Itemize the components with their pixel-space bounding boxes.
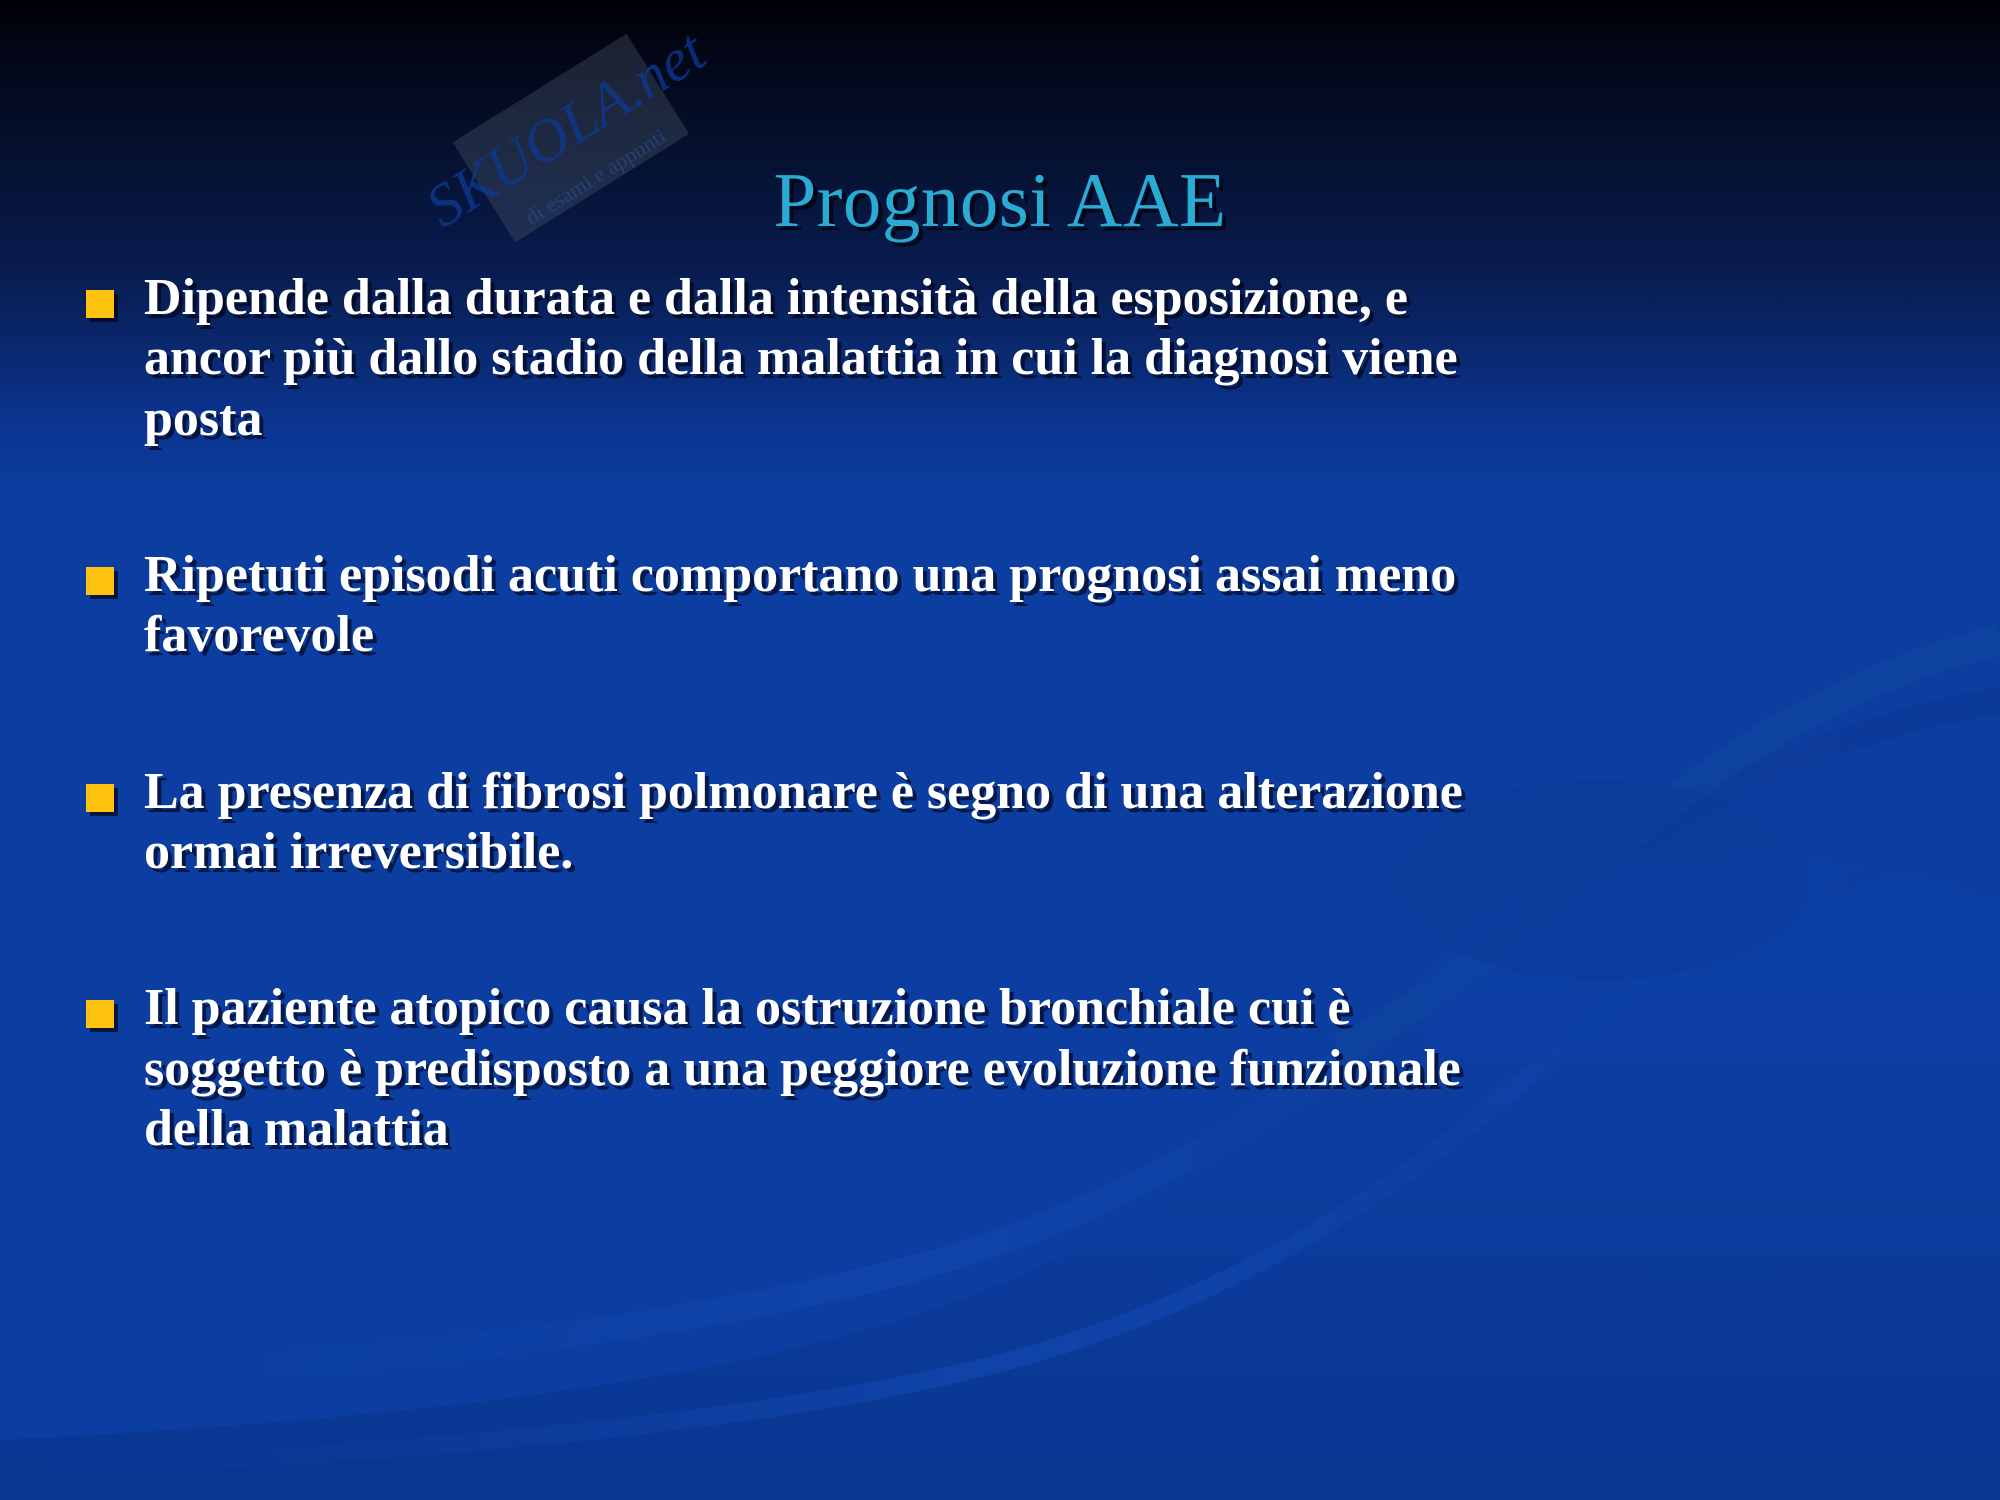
bullet-item-3: La presenza di fibrosi polmonare è segno… <box>86 762 1926 883</box>
bullet-item-3-text: La presenza di fibrosi polmonare è segno… <box>144 762 1584 883</box>
square-bullet-icon <box>86 1000 114 1028</box>
bullet-item-2-text: Ripetuti episodi acuti comportano una pr… <box>144 545 1574 666</box>
bullet-item-2: Ripetuti episodi acuti comportano una pr… <box>86 545 1926 666</box>
bullet-item-4: Il paziente atopico causa la ostruzione … <box>86 978 1926 1159</box>
square-bullet-icon <box>86 567 114 595</box>
presentation-slide: SKUOLA.net di esami e appunti Prognosi A… <box>0 0 2000 1500</box>
bullet-item-1: Dipende dalla durata e dalla intensità d… <box>86 268 1926 449</box>
bullet-item-4-text: Il paziente atopico causa la ostruzione … <box>144 978 1474 1159</box>
slide-title: Prognosi AAE <box>0 160 2000 241</box>
bullet-item-1-text: Dipende dalla durata e dalla intensità d… <box>144 268 1544 449</box>
square-bullet-icon <box>86 290 114 318</box>
slide-body-bullet-list: Dipende dalla durata e dalla intensità d… <box>86 268 1926 1219</box>
square-bullet-icon <box>86 784 114 812</box>
